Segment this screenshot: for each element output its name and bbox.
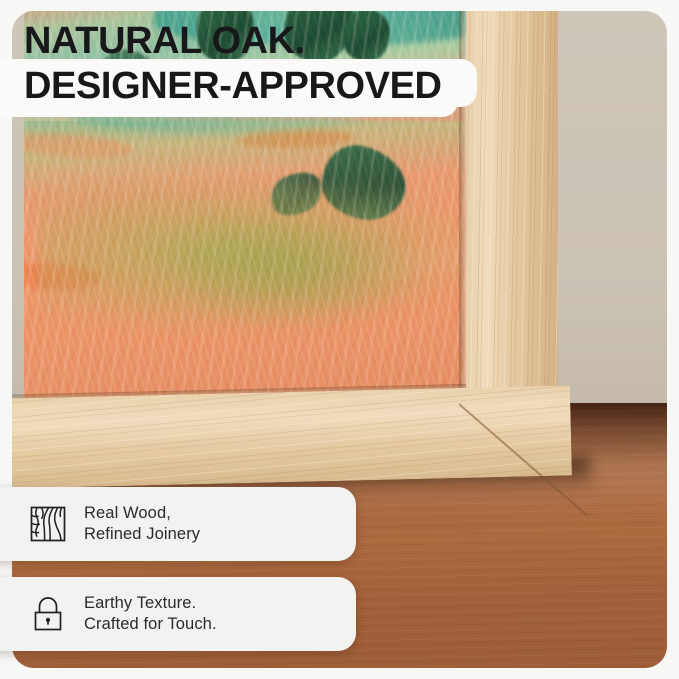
- wood-grain-icon: [28, 504, 68, 544]
- badge-2-line-1: Earthy Texture.: [84, 593, 217, 614]
- feature-badge-text: Earthy Texture. Crafted for Touch.: [84, 593, 217, 635]
- headline-line-1: NATURAL OAK.: [24, 19, 305, 63]
- feature-badge-earthy-texture[interactable]: Earthy Texture. Crafted for Touch.: [0, 577, 356, 651]
- feature-badge-text: Real Wood, Refined Joinery: [84, 503, 200, 545]
- lock-icon: [28, 594, 68, 634]
- badge-1-line-1: Real Wood,: [84, 503, 200, 524]
- product-lifestyle-image: NATURAL OAK. DESIGNER-APPROVED Real Wood…: [0, 0, 679, 679]
- frame-rail-bottom: [12, 385, 572, 489]
- badge-1-line-2: Refined Joinery: [84, 524, 200, 545]
- frame-rail-right: [466, 11, 558, 423]
- feature-badge-real-wood[interactable]: Real Wood, Refined Joinery: [0, 487, 356, 561]
- badge-2-line-2: Crafted for Touch.: [84, 614, 217, 635]
- headline-line-2: DESIGNER-APPROVED: [0, 59, 458, 117]
